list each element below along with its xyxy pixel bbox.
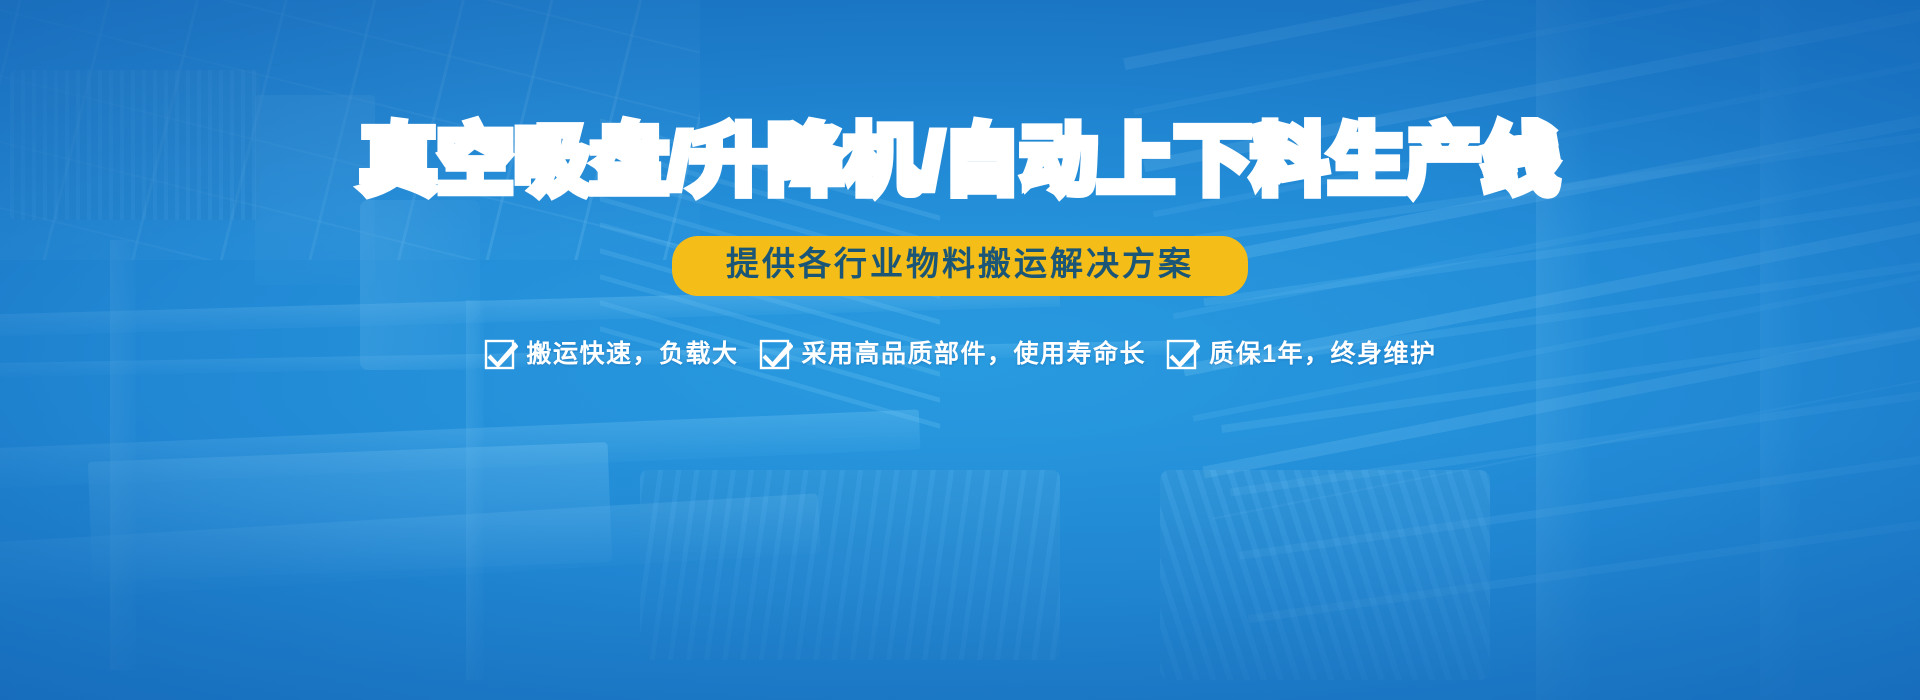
feature-label: 采用高品质部件，使用寿命长 bbox=[802, 342, 1147, 367]
banner-content: 真空吸盘/升降机/自动上下料生产线 真空吸盘/升降机/自动上下料生产线 提供各行… bbox=[0, 0, 1920, 700]
feature-item: 质保1年，终身维护 bbox=[1166, 338, 1436, 370]
hero-banner: 真空吸盘/升降机/自动上下料生产线 真空吸盘/升降机/自动上下料生产线 提供各行… bbox=[0, 0, 1920, 700]
check-box-icon bbox=[759, 338, 793, 370]
page-title: 真空吸盘/升降机/自动上下料生产线 真空吸盘/升降机/自动上下料生产线 bbox=[0, 124, 1920, 200]
headline-outline: 真空吸盘/升降机/自动上下料生产线 bbox=[360, 124, 1559, 200]
tagline-badge: 提供各行业物料搬运解决方案 bbox=[672, 236, 1248, 296]
feature-label: 质保1年，终身维护 bbox=[1209, 342, 1436, 367]
check-box-icon bbox=[484, 338, 518, 370]
badge-row: 提供各行业物料搬运解决方案 bbox=[0, 236, 1920, 296]
check-box-icon bbox=[1166, 338, 1200, 370]
feature-item: 采用高品质部件，使用寿命长 bbox=[759, 338, 1147, 370]
feature-label: 搬运快速，负载大 bbox=[527, 342, 739, 367]
feature-list: 搬运快速，负载大 采用高品质部件，使用寿命长 bbox=[0, 338, 1920, 370]
feature-item: 搬运快速，负载大 bbox=[484, 338, 739, 370]
